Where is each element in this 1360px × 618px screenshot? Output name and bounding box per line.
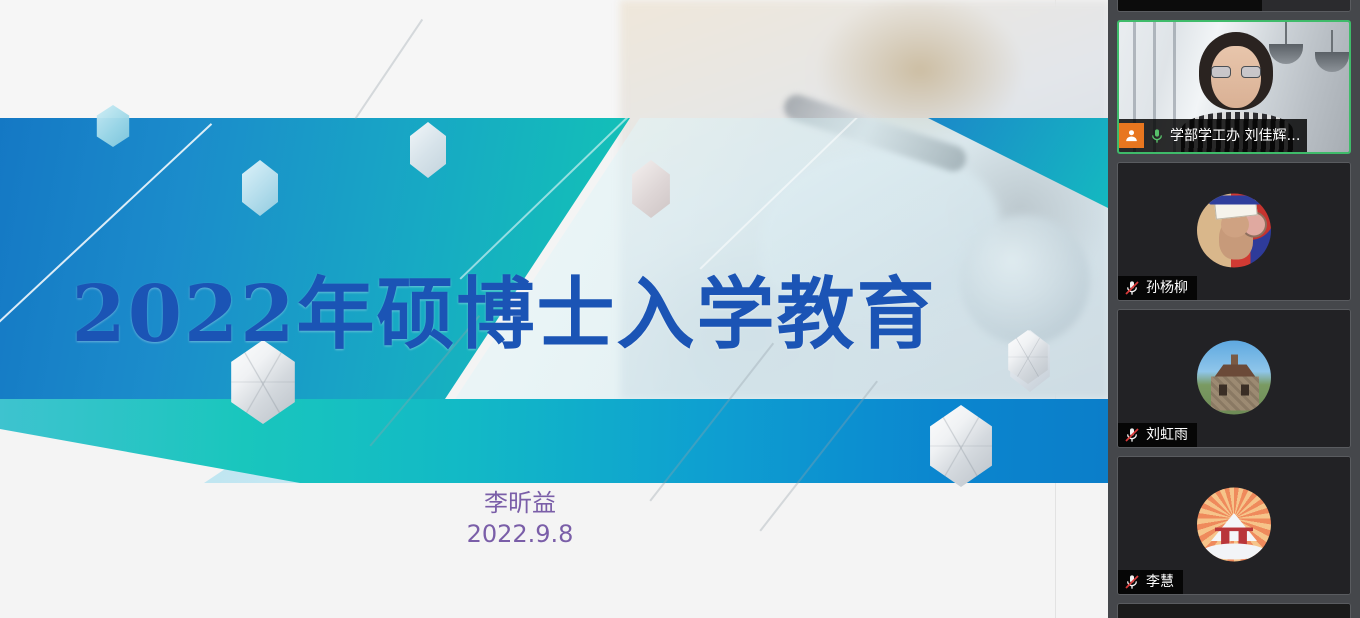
participant-name: 学部学工办 刘佳辉… (1170, 127, 1300, 145)
tile-media: 李慧 (1118, 457, 1350, 594)
slide-presenter-name: 李昕益 (0, 488, 1040, 519)
avatar-image-stone-house (1197, 340, 1271, 414)
participant-tile-partial-bottom[interactable] (1117, 603, 1351, 618)
ceiling-lamp (1315, 52, 1349, 72)
mic-muted-icon (1124, 426, 1140, 444)
ceiling-lamp (1269, 44, 1303, 64)
tile-media (1118, 0, 1350, 11)
mic-active-icon (1149, 127, 1165, 145)
presentation-slide: 2022年硕博士入学教育 李昕益 2022.9.8 (0, 0, 1108, 618)
tile-media (1118, 604, 1350, 618)
slide-title: 2022年硕博士入学教育 (0, 252, 1008, 364)
shared-screen-viewport[interactable]: 2022年硕博士入学教育 李昕益 2022.9.8 (0, 0, 1108, 618)
slide-date: 2022.9.8 (0, 519, 1040, 550)
participant-filmstrip[interactable]: 学部学工办 刘佳辉… (1108, 0, 1360, 618)
tile-media: 刘虹雨 (1118, 310, 1350, 447)
slide-subtitle: 李昕益 2022.9.8 (0, 488, 1040, 550)
participant-tile-lihui[interactable]: 李慧 (1117, 456, 1351, 595)
participant-name: 孙杨柳 (1146, 279, 1188, 297)
host-badge-icon (1119, 123, 1144, 148)
tile-media: 孙杨柳 (1118, 163, 1350, 300)
eyeglasses-icon (1211, 66, 1261, 78)
participant-tile-sunyangliu[interactable]: 孙杨柳 (1117, 162, 1351, 301)
tile-media: 学部学工办 刘佳辉… (1119, 22, 1349, 152)
participant-nameplate: 李慧 (1118, 570, 1183, 594)
meeting-window: 2022年硕博士入学教育 李昕益 2022.9.8 (0, 0, 1360, 618)
participant-name: 刘虹雨 (1146, 426, 1188, 444)
participant-name: 李慧 (1146, 573, 1174, 591)
participant-tile-partial-top[interactable] (1117, 0, 1351, 12)
mic-muted-icon (1124, 279, 1140, 297)
avatar-image-cartoon-mouse (1197, 193, 1271, 267)
participant-nameplate: 孙杨柳 (1118, 276, 1197, 300)
participant-tile-host[interactable]: 学部学工办 刘佳辉… (1117, 20, 1351, 154)
participant-nameplate: 刘虹雨 (1118, 423, 1197, 447)
avatar-image-mount-fuji (1197, 487, 1271, 561)
mic-muted-icon (1124, 573, 1140, 591)
participant-nameplate: 学部学工办 刘佳辉… (1119, 119, 1307, 152)
participant-tile-liuhongyu[interactable]: 刘虹雨 (1117, 309, 1351, 448)
